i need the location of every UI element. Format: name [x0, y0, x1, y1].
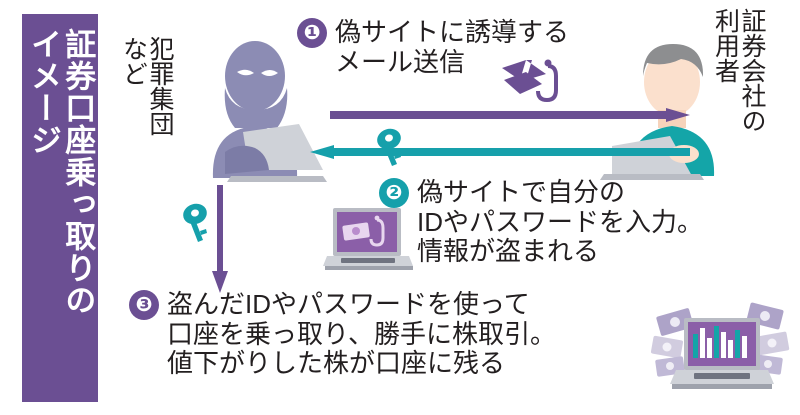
step-3-badge: ❸ — [129, 290, 159, 320]
takeover-arrow — [212, 185, 228, 293]
laptop-phishing-icon — [325, 206, 413, 282]
title-column-sub: イメージ — [27, 28, 59, 156]
step-2: ❷ 偽サイトで自分の IDやパスワードを入力。 情報が盗まれる — [379, 178, 703, 267]
step-1-badge: ❶ — [297, 18, 327, 48]
label-criminal-group-line-2: など — [120, 36, 146, 136]
key-icon — [180, 203, 214, 243]
key-icon — [374, 128, 408, 166]
credential-arrow — [310, 145, 690, 159]
label-criminal-group-line-1: 犯罪集団 — [147, 36, 173, 136]
infographic-canvas: 証券口座乗っ取りの イメージ 犯罪集団 など 証券会社の 利用者 — [0, 0, 800, 415]
label-securities-user-line-1: 証券会社の — [739, 8, 765, 133]
step-3-text: 盗んだIDやパスワードを使って 口座を乗っ取り、勝手に株取引。 値下がりした株が… — [167, 290, 556, 379]
step-3: ❸ 盗んだIDやパスワードを使って 口座を乗っ取り、勝手に株取引。 値下がりした… — [129, 290, 556, 379]
laptop-trading-icon — [652, 296, 792, 408]
step-2-text: 偽サイトで自分の IDやパスワードを入力。 情報が盗まれる — [417, 178, 703, 267]
title-banner-columns: 証券口座乗っ取りの イメージ — [22, 14, 98, 402]
label-criminal-group: 犯罪集団 など — [120, 36, 172, 136]
title-banner: 証券口座乗っ取りの イメージ — [22, 14, 98, 402]
title-column-main: 証券口座乗っ取りの — [61, 28, 93, 316]
step-2-badge: ❷ — [379, 178, 409, 208]
phishing-mail-icon — [500, 58, 560, 106]
email-arrow — [330, 108, 690, 122]
